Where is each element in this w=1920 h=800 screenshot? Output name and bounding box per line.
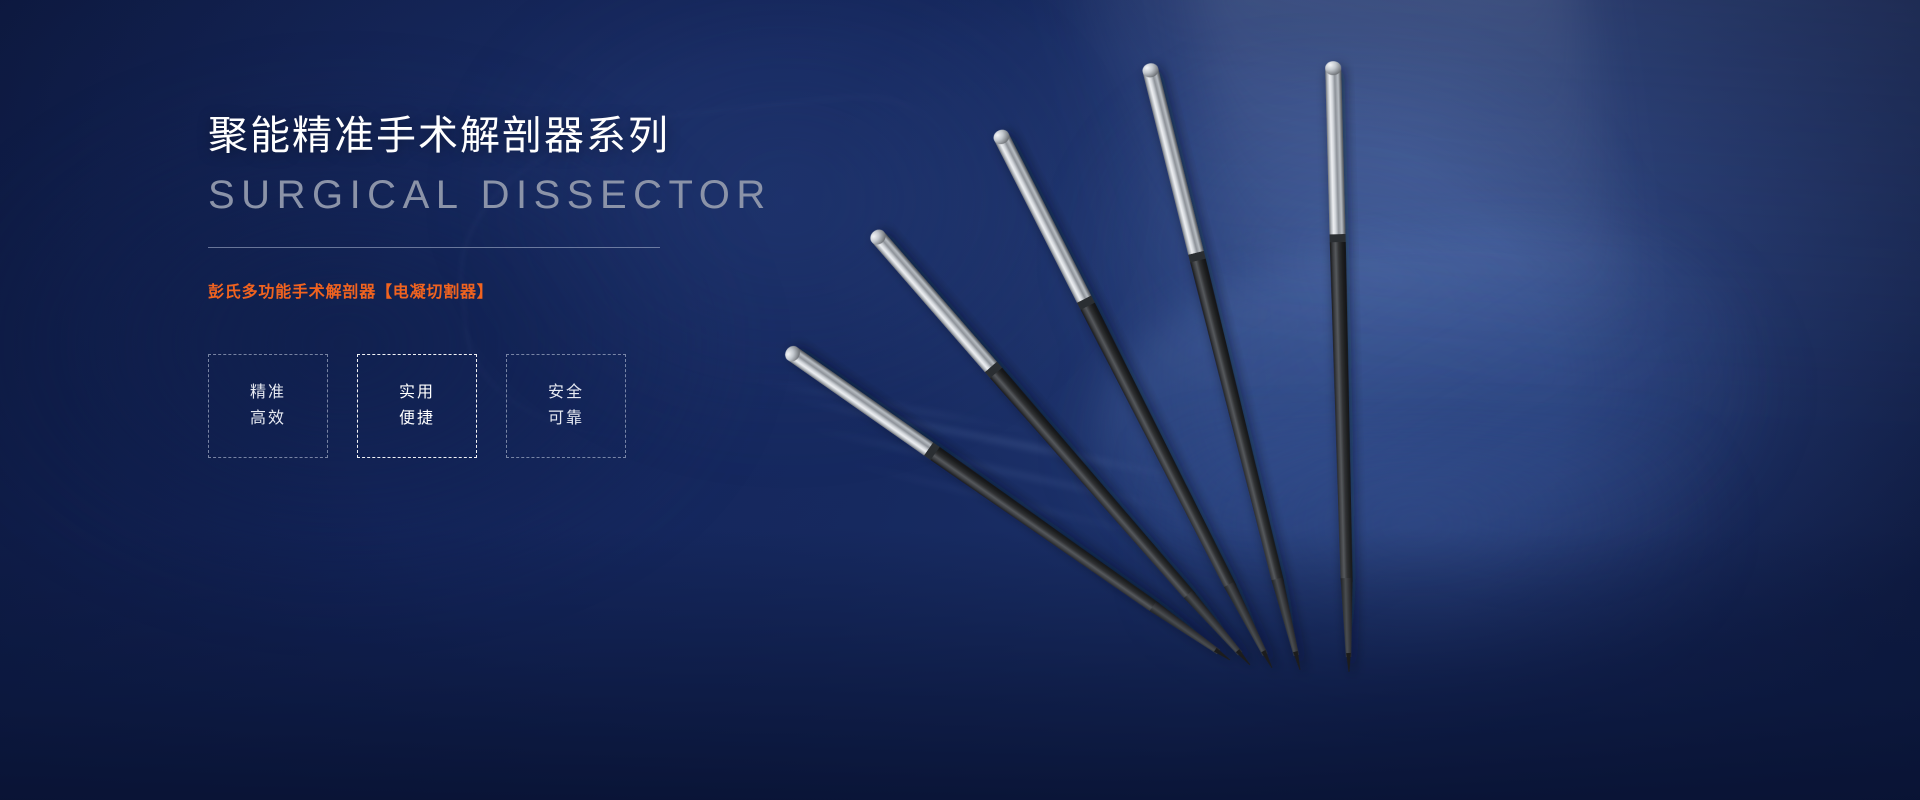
page-title: 聚能精准手术解剖器系列	[208, 112, 908, 161]
banner-content: 聚能精准手术解剖器系列 SURGICAL DISSECTOR 彭氏多功能手术解剖…	[208, 112, 908, 458]
feature-tag-2-line2: 便捷	[399, 411, 435, 427]
divider	[208, 247, 660, 248]
feature-tag-1-line2: 高效	[250, 411, 286, 427]
page-subtitle-en: SURGICAL DISSECTOR	[208, 173, 908, 217]
feature-tag-2-line1: 实用	[399, 385, 435, 401]
feature-tag-3[interactable]: 安全 可靠	[506, 354, 626, 458]
feature-tag-1[interactable]: 精准 高效	[208, 354, 328, 458]
background-bottom-fade	[0, 528, 1920, 800]
hero-banner: 聚能精准手术解剖器系列 SURGICAL DISSECTOR 彭氏多功能手术解剖…	[0, 0, 1920, 800]
feature-tag-list: 精准 高效 实用 便捷 安全 可靠	[208, 354, 908, 458]
feature-tag-1-line1: 精准	[250, 385, 286, 401]
product-name: 彭氏多功能手术解剖器【电凝切割器】	[208, 282, 908, 304]
feature-tag-3-line2: 可靠	[548, 411, 584, 427]
feature-tag-2[interactable]: 实用 便捷	[357, 354, 477, 458]
feature-tag-3-line1: 安全	[548, 385, 584, 401]
